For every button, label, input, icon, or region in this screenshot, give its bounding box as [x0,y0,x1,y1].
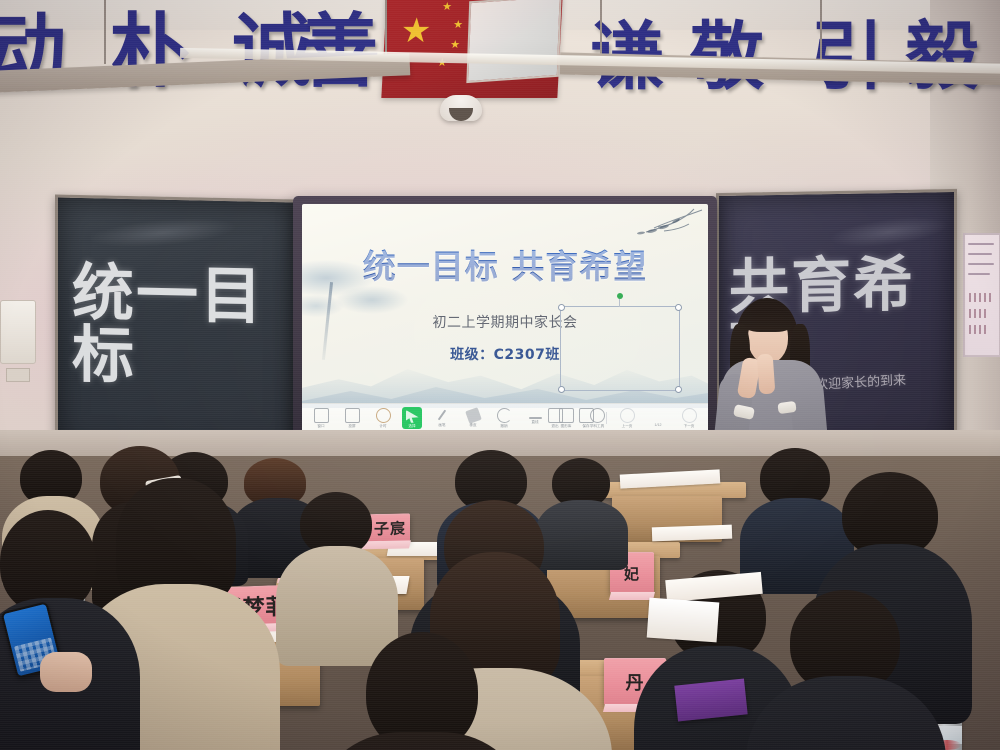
flag-star-small-1: ★ [442,2,452,13]
window-pane [466,0,561,83]
next-icon[interactable]: 下一页 [678,408,700,429]
classroom-photo-scene: ★ ★ ★ ★ ★ 动 朴 诚 善 谦 敬 引 毅 统一目标 共 [0,0,1000,750]
handout-paper [647,598,720,643]
save-icon[interactable]: 保存 [575,408,597,429]
back-icon[interactable]: 上一页 [616,408,638,429]
flag-star-small-2: ★ [453,20,463,31]
blackboard-right-subtext: 欢迎家长的到来 [815,369,907,393]
desk-paper [652,525,732,542]
slide-toolbar[interactable]: 窗口 投屏 计时 选择 [302,403,708,432]
flag-star-large: ★ [400,14,432,48]
slide-title: 统一目标 共育希望 [302,240,708,288]
light-hanger-1 [104,0,106,64]
screen-icon[interactable]: 投屏 [341,408,363,429]
blackboard-left: 统一目标 [55,194,299,455]
slide-selection-box[interactable] [560,306,680,391]
interactive-smart-screen[interactable]: 统一目标 共育希望 初二上学期期中家长会 班级：C2307班 窗口 [293,196,717,440]
wall-socket [6,368,30,382]
select-icon[interactable]: 选择 [402,407,422,429]
blackboard-left-text: 统一目标 [72,262,296,391]
wall-control-panel [0,300,36,364]
toolbar-right-group[interactable]: 退出 保存 上一页 1/12 [544,408,700,429]
notebook [674,678,747,721]
rotate-handle-icon[interactable] [617,293,623,299]
name-card-text: 子宸 [374,517,406,539]
eraser-icon[interactable]: 橡皮 [462,409,484,428]
dome-camera-icon [440,95,482,121]
window-icon[interactable]: 窗口 [310,408,332,429]
exit-icon[interactable]: 退出 [544,408,566,429]
screen-display[interactable]: 统一目标 共育希望 初二上学期期中家长会 班级：C2307班 窗口 [302,204,708,432]
teacher-hand-right [757,353,776,394]
pen-icon[interactable]: 画笔 [431,409,453,428]
handwritten-notes-whiteboard [963,233,1000,357]
teacher-bangs [742,308,794,332]
timer-icon[interactable]: 计时 [372,408,394,429]
flag-star-small-3: ★ [450,40,460,51]
page-indicator: 1/12 [647,409,669,428]
undo-icon[interactable]: 撤销 [493,408,515,429]
toolbar-left-group[interactable]: 窗口 投屏 计时 [310,408,394,429]
light-hanger-4 [820,0,822,62]
hand [40,652,92,692]
line-icon[interactable]: 直线 [524,411,546,424]
audience-foreground: 刘宇轩 张梦菲 陈柯瑜 子宸 妃 丹 [0,430,1000,750]
